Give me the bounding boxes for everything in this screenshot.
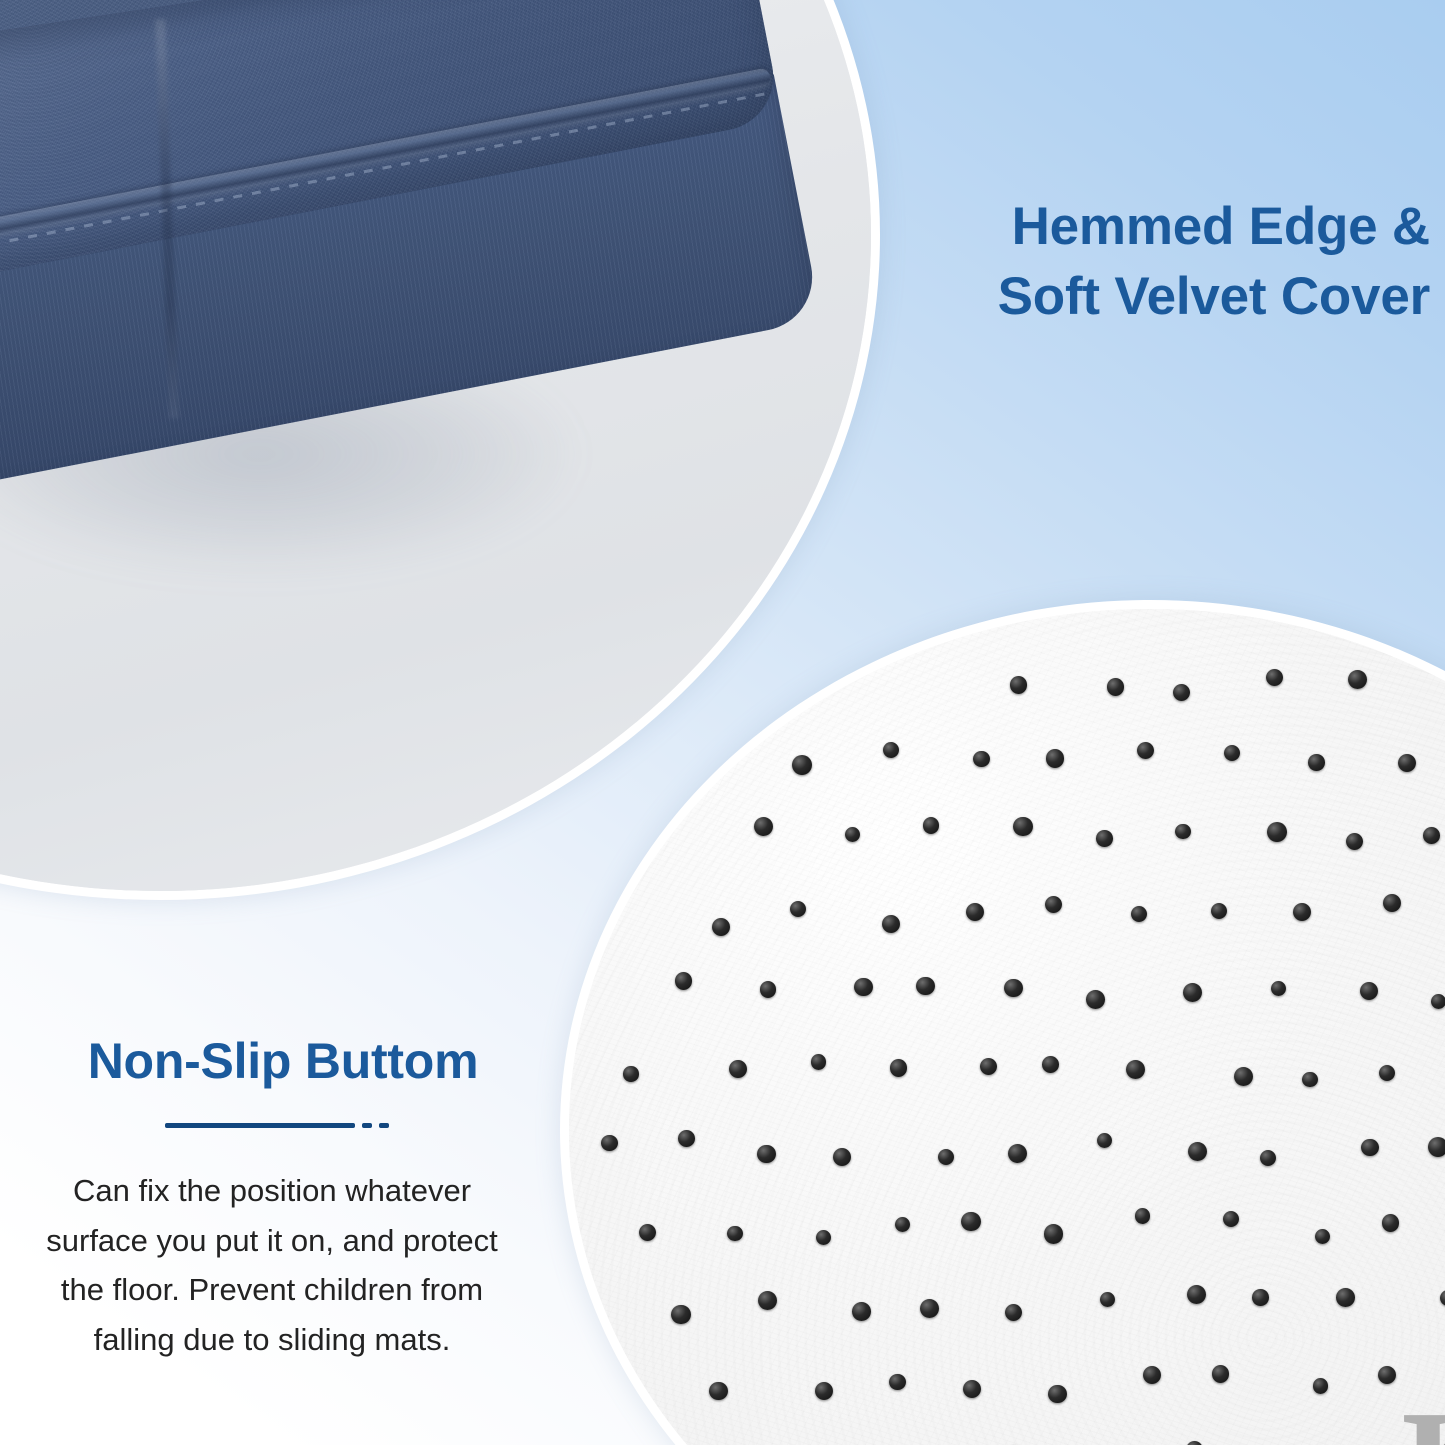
anti-slip-dot — [1013, 817, 1033, 837]
anti-slip-dot — [729, 1060, 747, 1078]
feature-divider — [14, 1123, 540, 1128]
anti-slip-dot — [1010, 676, 1027, 693]
headline: Hemmed Edge & Soft Velvet Cover — [930, 192, 1430, 332]
anti-slip-dot — [1398, 754, 1416, 772]
divider-rule — [165, 1123, 355, 1128]
anti-slip-dot — [712, 918, 731, 937]
anti-slip-dot — [727, 1226, 742, 1241]
product-feature-image: ILPECOD ILPECOD ILPECOD — [0, 0, 1445, 1445]
anti-slip-dot — [890, 1059, 907, 1076]
anti-slip-dot — [1267, 822, 1287, 842]
anti-slip-dot — [757, 1145, 775, 1163]
anti-slip-dot — [1183, 983, 1202, 1002]
anti-slip-dot — [1137, 742, 1154, 759]
anti-slip-dot — [792, 755, 812, 775]
anti-slip-dot — [1428, 1137, 1445, 1157]
anti-slip-dot — [709, 1382, 727, 1400]
anti-slip-dot — [1135, 1208, 1150, 1223]
brand-watermark: ILPECOD — [1399, 1399, 1445, 1445]
anti-slip-dot — [1005, 1304, 1022, 1321]
anti-slip-dot — [1234, 1067, 1253, 1086]
anti-slip-dot — [1302, 1072, 1318, 1088]
feature-block: Non-Slip Buttom Can fix the position wha… — [0, 1034, 540, 1364]
anti-slip-dot — [1048, 1385, 1067, 1404]
anti-slip-dot — [1308, 754, 1325, 771]
headline-line-2: Soft Velvet Cover — [930, 262, 1430, 332]
divider-dash-1 — [362, 1123, 372, 1128]
anti-slip-dot — [963, 1380, 981, 1398]
anti-slip-dot — [1361, 1139, 1379, 1157]
anti-slip-dot — [760, 981, 777, 998]
non-slip-fabric — [569, 609, 1445, 1445]
anti-slip-dot — [1096, 830, 1113, 847]
anti-slip-dot — [1046, 749, 1065, 768]
anti-slip-dot — [973, 751, 990, 768]
anti-slip-dot — [1224, 745, 1240, 761]
anti-slip-dot — [1378, 1366, 1396, 1384]
anti-slip-dot — [1107, 678, 1124, 695]
anti-slip-dot — [1431, 994, 1445, 1009]
anti-slip-dot — [678, 1130, 695, 1147]
anti-slip-dot — [815, 1382, 833, 1400]
divider-dash-2 — [379, 1123, 389, 1128]
anti-slip-dot — [811, 1054, 827, 1070]
anti-slip-dot — [1126, 1060, 1145, 1079]
anti-slip-dot — [816, 1230, 831, 1245]
anti-slip-dot — [923, 817, 939, 833]
brand-watermark-text: ILPECOD — [1399, 1383, 1445, 1445]
anti-slip-dot — [1086, 990, 1105, 1009]
anti-slip-dot — [852, 1302, 871, 1321]
anti-slip-dot — [1175, 824, 1191, 840]
anti-slip-dot — [1212, 1365, 1229, 1382]
anti-slip-dot — [895, 1217, 910, 1232]
headline-line-1: Hemmed Edge & — [930, 192, 1430, 262]
anti-slip-dot — [1336, 1288, 1355, 1307]
anti-slip-dot — [1044, 1224, 1063, 1243]
feature-body: Can fix the position whatever surface yo… — [0, 1166, 540, 1364]
non-slip-photo-panel: ILPECOD ILPECOD ILPECOD — [560, 600, 1445, 1445]
feature-title: Non-Slip Buttom — [0, 1034, 540, 1089]
anti-slip-dot — [1382, 1214, 1399, 1231]
anti-slip-dot — [889, 1374, 906, 1391]
anti-slip-dot — [623, 1066, 638, 1081]
anti-slip-dot — [1004, 979, 1022, 997]
anti-slip-dot — [938, 1149, 954, 1165]
anti-slip-dot — [854, 978, 872, 996]
fabric-fiber-texture — [569, 609, 1445, 1445]
anti-slip-dot — [1008, 1144, 1027, 1163]
anti-slip-dot — [980, 1058, 997, 1075]
anti-slip-dot — [1042, 1056, 1059, 1073]
anti-slip-dot — [966, 903, 984, 921]
anti-slip-dot — [916, 977, 935, 996]
anti-slip-dot — [675, 972, 693, 990]
anti-slip-dot — [758, 1291, 777, 1310]
anti-slip-dot — [1252, 1289, 1269, 1306]
anti-slip-dot — [671, 1305, 691, 1325]
anti-slip-dot — [1423, 827, 1440, 844]
